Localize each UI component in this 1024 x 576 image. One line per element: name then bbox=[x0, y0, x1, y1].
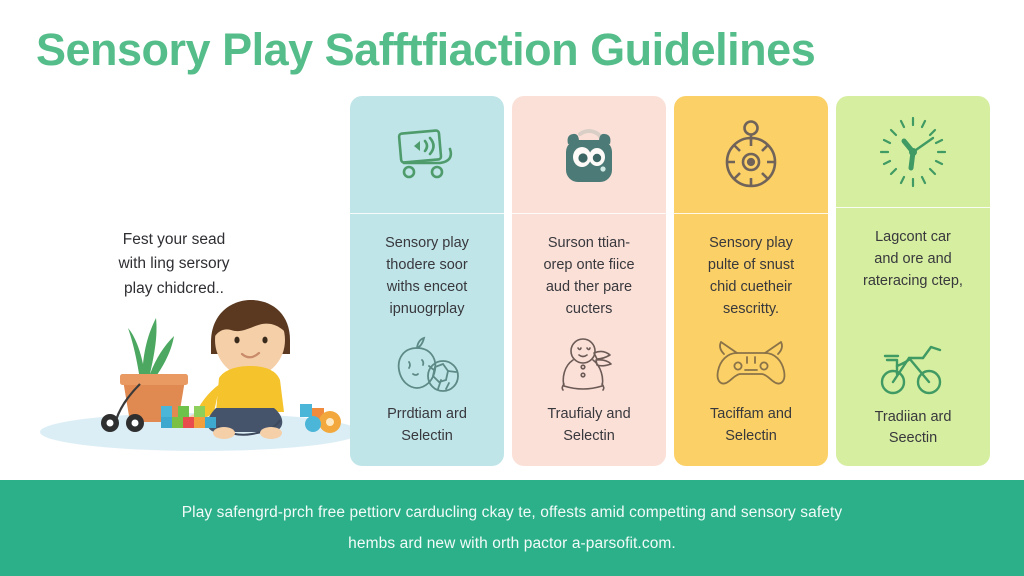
guideline-card[interactable]: Surson ttian- orep onte fiice aud ther p… bbox=[512, 96, 666, 466]
card-text-line: aud ther pare bbox=[522, 276, 656, 298]
card-body: Surson ttian- orep onte fiice aud ther p… bbox=[512, 214, 666, 466]
guideline-card[interactable]: Sensory play pulte of snust chid cuethei… bbox=[674, 96, 828, 466]
footer-band: Play safengrd-prch free pettiorv carducl… bbox=[0, 480, 1024, 576]
card-text-line: orep onte fiice bbox=[522, 254, 656, 276]
ship-wheel-icon bbox=[716, 120, 786, 190]
card-text-line: Sensory play bbox=[360, 232, 494, 254]
card-caption-line: Selectin bbox=[360, 426, 494, 448]
card-icon-zone bbox=[512, 96, 666, 214]
card-body: Sensory play pulte of snust chid cuethei… bbox=[674, 214, 828, 466]
page-title: Sensory Play Safftfiaction Guidelines bbox=[36, 24, 996, 76]
card-text-line: and ore and bbox=[846, 248, 980, 270]
footer-line: hembs ard new with orth pactor a-parsofi… bbox=[348, 528, 676, 559]
card-caption-line: Traufialy and bbox=[522, 404, 656, 426]
card-caption: Traufialy and Selectin bbox=[522, 404, 656, 448]
card-text: Surson ttian- orep onte fiice aud ther p… bbox=[522, 232, 656, 320]
card-text-line: Surson ttian- bbox=[522, 232, 656, 254]
card-text-line: Lagcont car bbox=[846, 226, 980, 248]
card-text-line: sescritty. bbox=[684, 298, 818, 320]
tricycle-icon bbox=[873, 338, 953, 398]
guideline-cards: Sensory play thodere soor withs enceot i… bbox=[350, 96, 990, 466]
card-icon-zone bbox=[836, 96, 990, 208]
guideline-card[interactable]: Lagcont car and ore and rateracing ctep, bbox=[836, 96, 990, 466]
card-icon-zone bbox=[674, 96, 828, 214]
apple-and-ball-icon bbox=[391, 336, 463, 394]
card-caption: Taciffam and Selectin bbox=[684, 404, 818, 448]
card-text-line: cucters bbox=[522, 298, 656, 320]
card-text-line: withs enceot bbox=[360, 276, 494, 298]
card-mid-icon-zone bbox=[554, 334, 624, 396]
card-caption-line: Selectin bbox=[522, 426, 656, 448]
card-caption: Prrdtiam ard Selectin bbox=[360, 404, 494, 448]
card-mid-icon-zone bbox=[873, 337, 953, 399]
card-caption-line: Tradiian ard bbox=[846, 407, 980, 429]
card-text-line: rateracing ctep, bbox=[846, 270, 980, 292]
media-cart-icon bbox=[392, 125, 462, 185]
card-body: Sensory play thodere soor withs enceot i… bbox=[350, 214, 504, 466]
card-text-line: Sensory play bbox=[684, 232, 818, 254]
card-caption-line: Selectin bbox=[684, 426, 818, 448]
card-text-line: pulte of snust bbox=[684, 254, 818, 276]
card-mid-icon-zone bbox=[391, 334, 463, 396]
card-body: Lagcont car and ore and rateracing ctep, bbox=[836, 208, 990, 466]
card-icon-zone bbox=[350, 96, 504, 214]
footer-line: Play safengrd-prch free pettiorv carducl… bbox=[182, 497, 843, 528]
clock-icon bbox=[871, 112, 955, 192]
potted-plant-icon bbox=[120, 318, 188, 422]
child-playing-illustration bbox=[28, 292, 358, 464]
intro-line: Fest your sead bbox=[24, 228, 324, 252]
intro-line: with ling sersory bbox=[24, 252, 324, 276]
guideline-card[interactable]: Sensory play thodere soor withs enceot i… bbox=[350, 96, 504, 466]
card-text-line: chid cuetheir bbox=[684, 276, 818, 298]
card-text-line: ipnuogrplay bbox=[360, 298, 494, 320]
backpack-icon bbox=[556, 124, 622, 186]
card-text: Sensory play pulte of snust chid cuethei… bbox=[684, 232, 818, 320]
card-text: Lagcont car and ore and rateracing ctep, bbox=[846, 226, 980, 292]
snowman-icon bbox=[554, 336, 624, 394]
intro-text-block: Fest your sead with ling sersory play ch… bbox=[24, 228, 324, 301]
card-mid-icon-zone bbox=[712, 334, 790, 396]
card-text: Sensory play thodere soor withs enceot i… bbox=[360, 232, 494, 320]
card-caption-line: Prrdtiam ard bbox=[360, 404, 494, 426]
card-caption: Tradiian ard Seectin bbox=[846, 407, 980, 451]
game-controller-icon bbox=[712, 339, 790, 391]
card-caption-line: Seectin bbox=[846, 428, 980, 450]
card-caption-line: Taciffam and bbox=[684, 404, 818, 426]
card-text-line: thodere soor bbox=[360, 254, 494, 276]
